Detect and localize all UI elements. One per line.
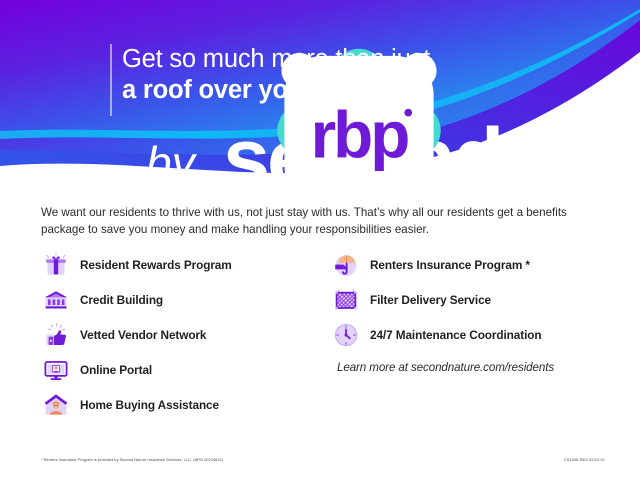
clock-icon [331,320,361,350]
header-banner: rbp by second nature Get so much more th… [0,0,640,185]
benefits-section: Resident Rewards Program Credit Building [41,248,601,423]
logo-divider [110,44,112,116]
intro-paragraph: We want our residents to thrive with us,… [41,205,591,238]
learn-more-link[interactable]: Learn more at secondnature.com/residents [337,361,601,374]
benefit-online-portal: Online Portal [41,353,331,387]
benefit-label: Vetted Vendor Network [80,328,206,342]
benefit-label: Home Buying Assistance [80,398,219,412]
benefit-label: 24/7 Maintenance Coordination [370,328,541,342]
home-buying-icon [41,390,71,420]
benefit-credit-building: Credit Building [41,283,331,317]
document-code: CS1008-RES 02/24 V1 [564,457,605,463]
benefit-resident-rewards-program: Resident Rewards Program [41,248,331,282]
benefit-renters-insurance-program: Renters Insurance Program * [331,248,601,282]
benefit-home-buying-assistance: Home Buying Assistance [41,388,331,422]
benefits-column-left: Resident Rewards Program Credit Building [41,248,331,423]
rbp-logo-mark: rbp [39,38,101,100]
benefit-label: Renters Insurance Program * [370,258,530,272]
monitor-portal-icon [41,355,71,385]
credit-building-icon [41,285,71,315]
umbrella-icon [331,250,361,280]
page-title: Get so much more than just a roof over y… [122,44,592,106]
svg-text:rbp: rbp [311,98,409,171]
benefit-label: Online Portal [80,363,152,377]
headline-line-2: a roof over your head. [122,75,592,106]
benefit-maintenance-coordination: 24/7 Maintenance Coordination [331,318,601,352]
benefit-filter-delivery-service: Filter Delivery Service [331,283,601,317]
benefit-label: Filter Delivery Service [370,293,491,307]
headline-line-1: Get so much more than just [122,44,592,75]
benefits-column-right: Renters Insurance Program * [331,248,601,423]
thumbs-up-icon [41,320,71,350]
gift-icon [41,250,71,280]
benefit-label: Credit Building [80,293,163,307]
rbp-logo: rbp by second nature [34,38,106,123]
air-filter-icon [331,285,361,315]
footnote-disclaimer: * Renters Insurance Program is provided … [41,457,223,463]
benefit-vetted-vendor-network: Vetted Vendor Network [41,318,331,352]
benefit-label: Resident Rewards Program [80,258,232,272]
